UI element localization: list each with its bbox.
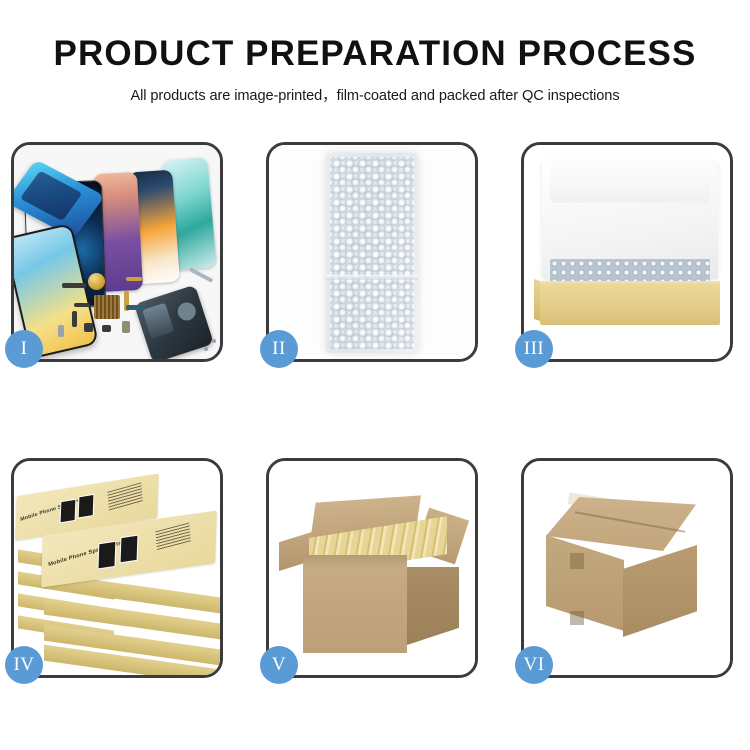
bubble-wrap-scene bbox=[269, 145, 475, 359]
step-badge-6: VI bbox=[515, 646, 553, 684]
part-screw-1 bbox=[204, 347, 208, 351]
step-panel-2: II bbox=[266, 142, 478, 362]
step-panel-3: III bbox=[521, 142, 733, 362]
product-preparation-infographic: PRODUCT PREPARATION PROCESS All products… bbox=[0, 0, 750, 750]
box-screen-img-3 bbox=[97, 541, 116, 570]
step-3-image bbox=[524, 145, 730, 359]
part-battery bbox=[122, 321, 130, 333]
step-panel-4: Mobile Phone Spare Parts Mobile Phone Sp… bbox=[11, 458, 223, 678]
part-connector-1 bbox=[126, 305, 144, 310]
step-4-image: Mobile Phone Spare Parts Mobile Phone Sp… bbox=[14, 461, 220, 675]
step-2-image bbox=[269, 145, 475, 359]
page-title: PRODUCT PREPARATION PROCESS bbox=[0, 36, 750, 71]
step-panel-5: V bbox=[266, 458, 478, 678]
phones-and-parts-scene bbox=[14, 145, 220, 359]
part-flex-3 bbox=[72, 311, 77, 327]
step-5-image bbox=[269, 461, 475, 675]
part-connector-3 bbox=[102, 325, 111, 332]
step-badge-3: III bbox=[515, 330, 553, 368]
step-badge-2: II bbox=[260, 330, 298, 368]
box-screen-img-2 bbox=[78, 494, 95, 519]
chip-grid-part bbox=[94, 295, 120, 319]
box-spec-lines-top bbox=[107, 482, 143, 511]
part-flex-2 bbox=[74, 303, 90, 307]
carton-left-face bbox=[546, 535, 624, 631]
bubble-pouch bbox=[326, 153, 418, 353]
stacked-boxes-scene: Mobile Phone Spare Parts Mobile Phone Sp… bbox=[14, 461, 220, 675]
bubble-texture-back bbox=[330, 157, 414, 349]
part-button bbox=[58, 325, 64, 337]
step-panel-6: VI bbox=[521, 458, 733, 678]
carton-right-face-sealed bbox=[623, 545, 697, 637]
step-badge-1: I bbox=[5, 330, 43, 368]
step-badge-4: IV bbox=[5, 646, 43, 684]
foam-flap bbox=[550, 155, 710, 203]
part-tweezers bbox=[189, 267, 214, 283]
process-steps-grid: I II bbox=[11, 142, 739, 682]
carton-seam-tab-2 bbox=[570, 611, 584, 625]
phone-chassis bbox=[134, 285, 214, 359]
box-spec-lines-second bbox=[155, 522, 191, 551]
part-connector-2 bbox=[84, 323, 93, 332]
kraft-box-body bbox=[540, 285, 720, 325]
part-strip-2 bbox=[126, 277, 142, 281]
pouch-seam bbox=[326, 275, 418, 280]
carton-right-face bbox=[407, 567, 459, 645]
step-panel-1: I bbox=[11, 142, 223, 362]
carton-front-face bbox=[303, 567, 407, 653]
part-strip-1 bbox=[62, 283, 86, 288]
sealed-carton-scene bbox=[524, 461, 730, 675]
part-screw-2 bbox=[212, 339, 216, 343]
step-badge-5: V bbox=[260, 646, 298, 684]
coil-part-icon bbox=[88, 273, 105, 290]
carton-seam-tab-1 bbox=[570, 553, 584, 569]
step-6-image bbox=[524, 461, 730, 675]
page-subtitle: All products are image-printed，film-coat… bbox=[0, 84, 750, 105]
open-carton-scene bbox=[269, 461, 475, 675]
box-screen-img-1 bbox=[60, 499, 77, 524]
inner-box-scene bbox=[524, 145, 730, 359]
step-1-image bbox=[14, 145, 220, 359]
box-screen-img-4 bbox=[120, 535, 139, 564]
header: PRODUCT PREPARATION PROCESS All products… bbox=[0, 36, 750, 105]
